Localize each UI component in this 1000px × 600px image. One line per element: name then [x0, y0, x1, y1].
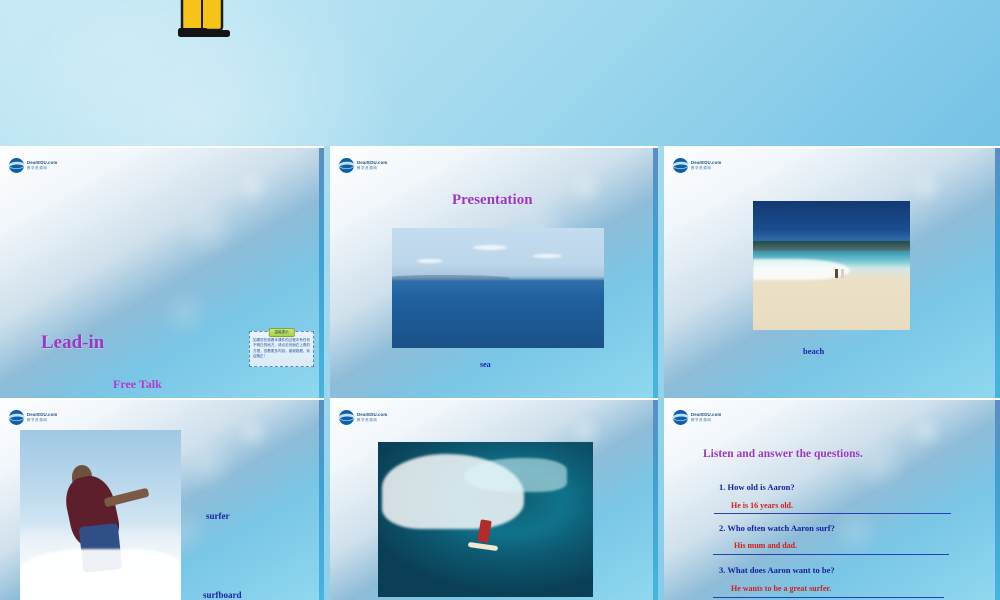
globe-logo-icon: [338, 157, 355, 174]
globe-logo-icon: [338, 409, 355, 426]
top-banner: [0, 0, 1000, 146]
answer-rule-3: [713, 597, 944, 598]
slide2-title: Presentation: [452, 192, 533, 209]
slide-lead-in[interactable]: DearEDU.com 教学资源网 Lead-in Free Talk Do y…: [0, 146, 324, 398]
slide-cell-6[interactable]: DearEDU.com 教学资源网 Listen and answer the …: [664, 398, 1000, 600]
slide6-title: Listen and answer the questions.: [703, 448, 863, 460]
slide6-question-3: 3. What does Aaron want to be?: [719, 565, 835, 575]
logo-primary-text: DearEDU.com: [27, 161, 57, 165]
answer-rule-2: [713, 554, 949, 555]
logo-secondary-text: 教学资源网: [27, 167, 57, 170]
dearedu-logo: DearEDU.com 教学资源网: [672, 157, 721, 174]
slide-cell-3[interactable]: DearEDU.com 教学资源网 beach: [664, 146, 1000, 398]
dearedu-logo: DearEDU.com 教学资源网: [338, 157, 387, 174]
slide2-caption: sea: [480, 360, 491, 369]
slide1-title: Lead-in: [41, 332, 104, 354]
slide6-answer-2: His mum and dad.: [734, 541, 797, 550]
answer-rule-1: [714, 513, 951, 514]
logo-primary-text: DearEDU.com: [691, 161, 721, 165]
beach-photo: [753, 201, 910, 330]
dearedu-logo: DearEDU.com 教学资源网: [338, 409, 387, 426]
tip-callout-badge: 温馨提示: [268, 328, 294, 337]
surfer-photo: [20, 430, 181, 600]
slide6-question-2: 2. Who often watch Aaron surf?: [719, 523, 835, 533]
slide-cell-1[interactable]: DearEDU.com 教学资源网 Lead-in Free Talk Do y…: [0, 146, 330, 398]
globe-logo-icon: [672, 157, 689, 174]
globe-logo-icon: [672, 409, 689, 426]
big-wave-surfing-photo: [378, 442, 593, 597]
slide-presentation-surfer[interactable]: DearEDU.com 教学资源网 surfer surfboard: [0, 398, 324, 600]
slide-listen-and-answer[interactable]: DearEDU.com 教学资源网 Listen and answer the …: [664, 398, 1000, 600]
slide1-subtitle: Free Talk: [113, 377, 162, 392]
dearedu-logo: DearEDU.com 教学资源网: [672, 409, 721, 426]
cartoon-person-icon: [168, 0, 238, 48]
slide-cell-2[interactable]: DearEDU.com 教学资源网 Presentation sea: [330, 146, 664, 398]
slide3-caption: beach: [803, 346, 824, 356]
logo-secondary-text: 教学资源网: [357, 167, 387, 170]
slide-thumbnail-page: DearEDU.com 教学资源网 Lead-in Free Talk Do y…: [0, 0, 1000, 600]
slide-cell-5[interactable]: DearEDU.com 教学资源网: [330, 398, 664, 600]
logo-secondary-text: 教学资源网: [357, 419, 387, 422]
slide6-answer-1: He is 16 years old.: [731, 501, 793, 510]
logo-primary-text: DearEDU.com: [357, 413, 387, 417]
sea-photo: [392, 228, 604, 348]
globe-logo-icon: [8, 409, 25, 426]
slide4-caption-surfer: surfer: [206, 511, 230, 521]
slide6-question-1: 1. How old is Aaron?: [719, 482, 795, 492]
logo-primary-text: DearEDU.com: [27, 413, 57, 417]
slide4-caption-surfboard: surfboard: [203, 590, 242, 600]
logo-secondary-text: 教学资源网: [27, 419, 57, 422]
slide-cell-4[interactable]: DearEDU.com 教学资源网 surfer surfboard: [0, 398, 330, 600]
logo-primary-text: DearEDU.com: [357, 161, 387, 165]
slide-presentation-beach[interactable]: DearEDU.com 教学资源网 beach: [664, 146, 1000, 398]
dearedu-logo: DearEDU.com 教学资源网: [8, 409, 57, 426]
tip-callout-body: 如果您在观看本课件的过程中有任何不明白的地方，请点击页面右上角的方框，查看更多内…: [253, 338, 310, 360]
logo-secondary-text: 教学资源网: [691, 167, 721, 170]
tip-callout-box[interactable]: 温馨提示 如果您在观看本课件的过程中有任何不明白的地方，请点击页面右上角的方框，…: [249, 331, 314, 367]
globe-logo-icon: [8, 157, 25, 174]
slide-presentation-wave[interactable]: DearEDU.com 教学资源网: [330, 398, 658, 600]
slide-grid: DearEDU.com 教学资源网 Lead-in Free Talk Do y…: [0, 146, 1000, 600]
logo-secondary-text: 教学资源网: [691, 419, 721, 422]
slide6-answer-3: He wants to be a great surfer.: [731, 584, 831, 593]
logo-primary-text: DearEDU.com: [691, 413, 721, 417]
slide-presentation-sea[interactable]: DearEDU.com 教学资源网 Presentation sea: [330, 146, 658, 398]
dearedu-logo: DearEDU.com 教学资源网: [8, 157, 57, 174]
